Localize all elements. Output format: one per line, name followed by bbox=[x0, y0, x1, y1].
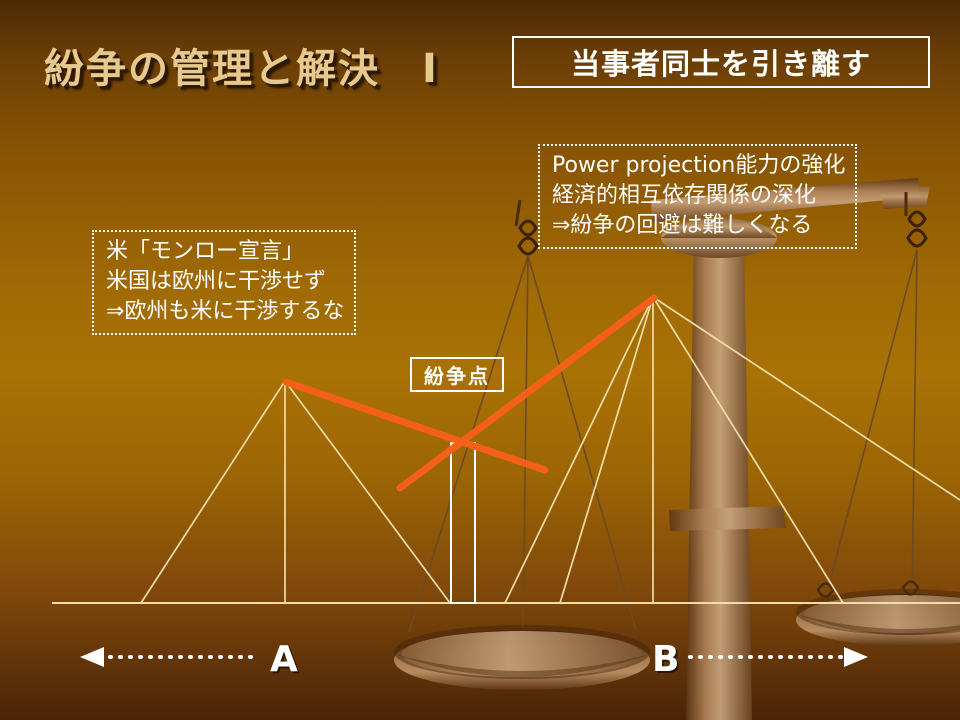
actor-b-label: B bbox=[652, 639, 679, 680]
note-right-line-1: Power projection能力の強化 bbox=[552, 151, 845, 181]
cone-actor-a bbox=[141, 381, 450, 603]
slide-canvas: 紛争の管理と解決 Ⅰ 当事者同士を引き離す Power projection能力… bbox=[0, 0, 960, 720]
actor-a-label: A bbox=[270, 639, 298, 680]
note-left-line-1: 米「モンロー宣言」 bbox=[106, 237, 344, 267]
arrow-b bbox=[690, 647, 868, 667]
header-topic-box: 当事者同士を引き離す bbox=[512, 36, 930, 88]
arrow-a bbox=[80, 647, 258, 667]
note-power-projection: Power projection能力の強化 経済的相互依存関係の深化 ⇒紛争の回… bbox=[538, 144, 857, 249]
projection-line-b bbox=[400, 298, 654, 488]
note-right-line-3: ⇒紛争の回避は難しくなる bbox=[552, 211, 845, 241]
header-topic-label: 当事者同士を引き離す bbox=[571, 41, 871, 83]
page-title: 紛争の管理と解決 Ⅰ bbox=[44, 36, 439, 94]
conflict-point-label: 紛争点 bbox=[410, 357, 504, 392]
conflict-point-box bbox=[451, 443, 475, 603]
note-left-line-2: 米国は欧州に干渉せず bbox=[106, 267, 344, 297]
cone-actor-b bbox=[505, 297, 960, 603]
note-monroe-doctrine: 米「モンロー宣言」 米国は欧州に干渉せず ⇒欧州も米に干渉するな bbox=[92, 230, 356, 335]
note-right-line-2: 経済的相互依存関係の深化 bbox=[552, 181, 845, 211]
note-left-line-3: ⇒欧州も米に干渉するな bbox=[106, 297, 344, 327]
projection-line-a bbox=[286, 382, 545, 470]
